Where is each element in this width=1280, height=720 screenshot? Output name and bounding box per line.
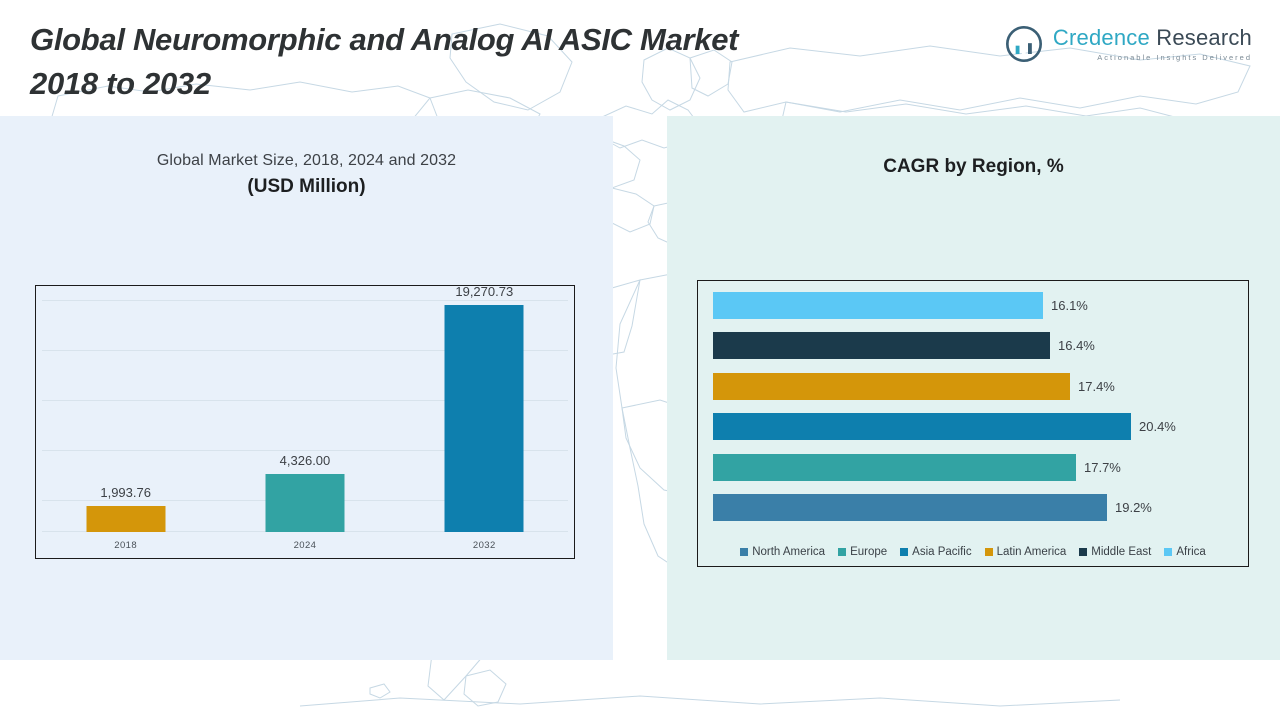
right-chart-bars: 16.1% 16.4% 17.4% 20.4% xyxy=(698,285,1248,528)
horizontal-bar[interactable] xyxy=(713,373,1070,400)
legend-label: Asia Pacific xyxy=(912,546,971,558)
legend-item-middle-east[interactable]: Middle East xyxy=(1079,546,1151,558)
left-chart-bars: 1,993.76 4,326.00 19,270.73 xyxy=(36,286,574,532)
category-label: 2018 xyxy=(114,540,137,551)
bar-value-label: 16.4% xyxy=(1058,338,1095,353)
column-item[interactable]: 4,326.00 xyxy=(215,286,394,532)
left-chart-heading-line2: (USD Million) xyxy=(0,176,613,198)
legend-swatch-icon xyxy=(740,548,748,556)
legend-swatch-icon xyxy=(900,548,908,556)
cagr-by-region-bar-chart: 16.1% 16.4% 17.4% 20.4% xyxy=(697,280,1249,567)
bar-row[interactable]: 16.1% xyxy=(698,285,1248,325)
legend-swatch-icon xyxy=(985,548,993,556)
page-title-line2: 2018 to 2032 xyxy=(30,66,211,101)
logo-name-credence: Credence xyxy=(1053,25,1150,50)
bar-row[interactable]: 19.2% xyxy=(698,487,1248,527)
category-label: 2032 xyxy=(473,540,496,551)
right-chart-heading: CAGR by Region, % xyxy=(667,156,1280,178)
page-header: Global Neuromorphic and Analog AI ASIC M… xyxy=(0,0,1280,116)
column-bar[interactable] xyxy=(86,506,165,532)
legend-label: Europe xyxy=(850,546,887,558)
left-chart-heading-line1: Global Market Size, 2018, 2024 and 2032 xyxy=(0,152,613,170)
horizontal-bar[interactable] xyxy=(713,413,1131,440)
horizontal-bar[interactable] xyxy=(713,332,1050,359)
bar-value-label: 20.4% xyxy=(1139,419,1176,434)
horizontal-bar[interactable] xyxy=(713,454,1076,481)
right-chart-legend: North America Europe Asia Pacific Latin … xyxy=(698,546,1248,558)
right-panel: CAGR by Region, % 16.1% 16.4% 17.4% xyxy=(667,116,1280,660)
infographic-page: Global Neuromorphic and Analog AI ASIC M… xyxy=(0,0,1280,720)
legend-label: Latin America xyxy=(997,546,1067,558)
column-value-label: 4,326.00 xyxy=(280,453,331,468)
column-value-label: 1,993.76 xyxy=(100,485,151,500)
logo-text: Credence Research Actionable Insights De… xyxy=(1053,27,1252,62)
legend-swatch-icon xyxy=(838,548,846,556)
left-panel: Global Market Size, 2018, 2024 and 2032 … xyxy=(0,116,613,660)
credence-research-logo[interactable]: Credence Research Actionable Insights De… xyxy=(1004,24,1252,64)
bar-row[interactable]: 17.4% xyxy=(698,366,1248,406)
page-title-line1: Global Neuromorphic and Analog AI ASIC M… xyxy=(30,22,738,57)
market-size-column-chart: 1,993.76 4,326.00 19,270.73 2018 xyxy=(35,285,575,559)
column-value-label: 19,270.73 xyxy=(455,285,513,299)
category-cell: 2018 xyxy=(36,532,215,558)
horizontal-bar[interactable] xyxy=(713,292,1043,319)
legend-item-africa[interactable]: Africa xyxy=(1164,546,1205,558)
column-item[interactable]: 19,270.73 xyxy=(395,286,574,532)
legend-label: North America xyxy=(752,546,825,558)
legend-label: Middle East xyxy=(1091,546,1151,558)
legend-swatch-icon xyxy=(1079,548,1087,556)
category-label: 2024 xyxy=(294,540,317,551)
horizontal-bar[interactable] xyxy=(713,494,1107,521)
logo-name-research: Research xyxy=(1150,25,1252,50)
bar-row[interactable]: 17.7% xyxy=(698,447,1248,487)
column-item[interactable]: 1,993.76 xyxy=(36,286,215,532)
category-cell: 2024 xyxy=(215,532,394,558)
column-bar[interactable] xyxy=(445,305,524,532)
column-bar[interactable] xyxy=(265,474,344,532)
bar-row[interactable]: 16.4% xyxy=(698,325,1248,365)
category-cell: 2032 xyxy=(395,532,574,558)
logo-wordmark: Credence Research xyxy=(1053,27,1252,49)
logo-tagline: Actionable Insights Delivered xyxy=(1053,54,1252,62)
page-title: Global Neuromorphic and Analog AI ASIC M… xyxy=(30,18,990,106)
legend-item-latin-america[interactable]: Latin America xyxy=(985,546,1067,558)
bar-value-label: 16.1% xyxy=(1051,298,1088,313)
bar-value-label: 17.4% xyxy=(1078,379,1115,394)
left-chart-category-axis: 2018 2024 2032 xyxy=(36,532,574,558)
legend-swatch-icon xyxy=(1164,548,1172,556)
left-chart-heading: Global Market Size, 2018, 2024 and 2032 … xyxy=(0,152,613,198)
bar-row[interactable]: 20.4% xyxy=(698,406,1248,446)
legend-item-europe[interactable]: Europe xyxy=(838,546,887,558)
legend-item-asia-pacific[interactable]: Asia Pacific xyxy=(900,546,971,558)
bar-chart-circle-icon xyxy=(1004,24,1044,64)
bar-value-label: 17.7% xyxy=(1084,460,1121,475)
bar-value-label: 19.2% xyxy=(1115,500,1152,515)
legend-item-north-america[interactable]: North America xyxy=(740,546,825,558)
legend-label: Africa xyxy=(1176,546,1205,558)
